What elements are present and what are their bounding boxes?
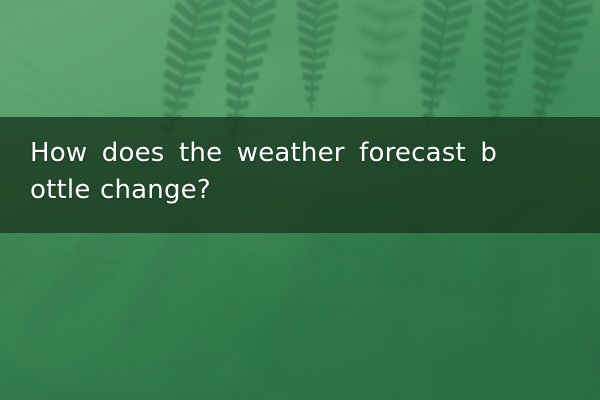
headline-text: How does the weather forecast bottle cha… [30,135,582,209]
headline-band: How does the weather forecast bottle cha… [0,117,600,233]
headline-line-2: ottle change? [30,172,582,209]
image-text-card: How does the weather forecast bottle cha… [0,0,600,400]
headline-line-1: How does the weather forecast b [30,135,582,172]
